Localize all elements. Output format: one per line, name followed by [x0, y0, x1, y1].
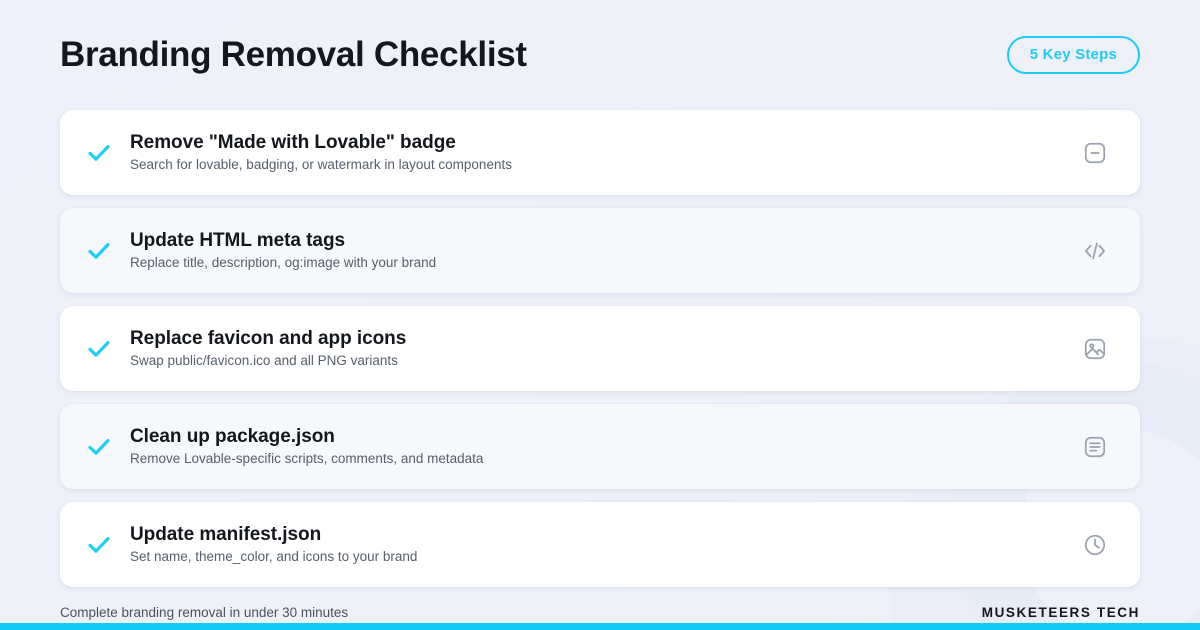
checklist-item-text: Clean up package.json Remove Lovable-spe…	[130, 425, 1078, 468]
checklist: Remove "Made with Lovable" badge Search …	[60, 110, 1140, 587]
checklist-item[interactable]: Remove "Made with Lovable" badge Search …	[60, 110, 1140, 195]
checklist-infographic: Branding Removal Checklist 5 Key Steps R…	[0, 0, 1200, 630]
checklist-item-text: Replace favicon and app icons Swap publi…	[130, 327, 1078, 370]
page-title: Branding Removal Checklist	[60, 36, 527, 75]
check-icon	[82, 332, 116, 366]
check-icon	[82, 136, 116, 170]
badge-minus-icon	[1078, 136, 1112, 170]
checklist-item[interactable]: Update HTML meta tags Replace title, des…	[60, 208, 1140, 293]
checklist-item-subtitle: Search for lovable, badging, or watermar…	[130, 157, 1078, 174]
checklist-item[interactable]: Update manifest.json Set name, theme_col…	[60, 502, 1140, 587]
clock-icon	[1078, 528, 1112, 562]
checklist-item-text: Update HTML meta tags Replace title, des…	[130, 229, 1078, 272]
content-area: Branding Removal Checklist 5 Key Steps R…	[0, 0, 1200, 630]
image-icon	[1078, 332, 1112, 366]
checklist-item-title: Clean up package.json	[130, 425, 1078, 448]
checklist-item-title: Replace favicon and app icons	[130, 327, 1078, 350]
code-brackets-icon	[1078, 234, 1112, 268]
checklist-item-title: Update HTML meta tags	[130, 229, 1078, 252]
check-icon	[82, 430, 116, 464]
checklist-item-subtitle: Swap public/favicon.ico and all PNG vari…	[130, 353, 1078, 370]
checklist-item[interactable]: Clean up package.json Remove Lovable-spe…	[60, 404, 1140, 489]
checklist-item-subtitle: Remove Lovable-specific scripts, comment…	[130, 451, 1078, 468]
checklist-item[interactable]: Replace favicon and app icons Swap publi…	[60, 306, 1140, 391]
check-icon	[82, 528, 116, 562]
checklist-item-subtitle: Set name, theme_color, and icons to your…	[130, 549, 1078, 566]
page-header: Branding Removal Checklist 5 Key Steps	[60, 0, 1140, 110]
checklist-item-subtitle: Replace title, description, og:image wit…	[130, 255, 1078, 272]
checklist-item-title: Remove "Made with Lovable" badge	[130, 131, 1078, 154]
checklist-item-text: Update manifest.json Set name, theme_col…	[130, 523, 1078, 566]
checklist-item-title: Update manifest.json	[130, 523, 1078, 546]
document-lines-icon	[1078, 430, 1112, 464]
footer-brand: MUSKETEERS TECH	[982, 605, 1140, 620]
checklist-item-text: Remove "Made with Lovable" badge Search …	[130, 131, 1078, 174]
check-icon	[82, 234, 116, 268]
steps-count-badge: 5 Key Steps	[1007, 36, 1140, 74]
footer-note: Complete branding removal in under 30 mi…	[60, 605, 348, 620]
bottom-accent-bar	[0, 623, 1200, 630]
